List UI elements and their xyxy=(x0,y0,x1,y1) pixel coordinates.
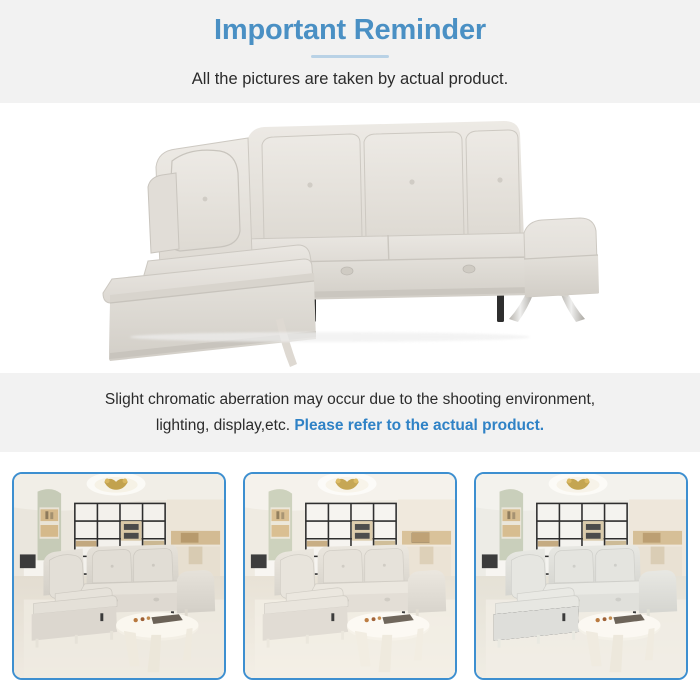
page-title: Important Reminder xyxy=(0,12,700,48)
room-scene-thumbnail-1[interactable] xyxy=(12,472,226,680)
room-scene-illustration-3 xyxy=(476,474,686,678)
room-scene-thumbnail-3[interactable] xyxy=(474,472,688,680)
sofa-corner-back xyxy=(148,138,252,268)
notice-line-1: Slight chromatic aberration may occur du… xyxy=(105,391,595,408)
reminder-infographic-page: Important Reminder All the pictures are … xyxy=(0,0,700,700)
room-scene-thumbnail-2[interactable] xyxy=(243,472,457,680)
header-band: Important Reminder All the pictures are … xyxy=(0,0,700,103)
sofa-right-arm xyxy=(524,218,599,297)
room-scene-illustration-1 xyxy=(14,474,224,678)
page-subtitle: All the pictures are taken by actual pro… xyxy=(0,68,700,90)
title-divider xyxy=(311,55,389,58)
hero-product-image xyxy=(0,103,700,373)
notice-line-2-plain: lighting, display,etc. xyxy=(156,417,294,434)
notice-accent-text: Please refer to the actual product. xyxy=(294,417,544,434)
notice-text: Slight chromatic aberration may occur du… xyxy=(77,387,623,439)
room-scene-illustration-2 xyxy=(245,474,455,678)
thumbnail-strip xyxy=(0,452,700,700)
sectional-sofa-illustration xyxy=(0,103,700,373)
notice-band: Slight chromatic aberration may occur du… xyxy=(0,373,700,452)
